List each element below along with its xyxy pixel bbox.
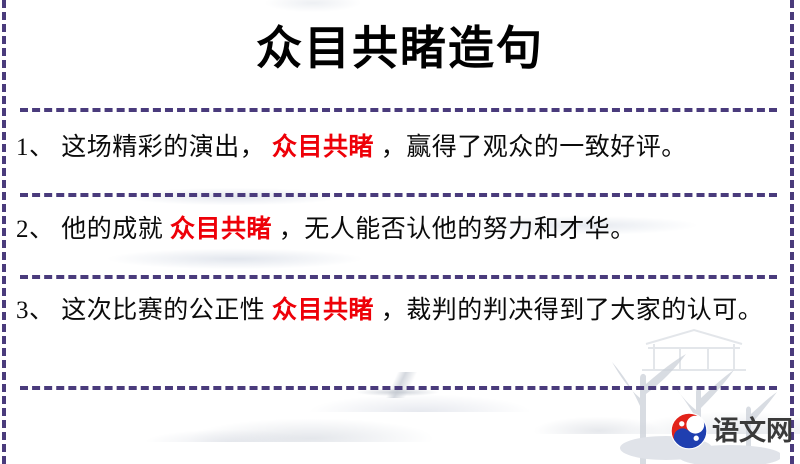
site-logo[interactable]: 语文网 bbox=[670, 408, 792, 454]
dashed-separator-3 bbox=[20, 275, 777, 279]
sentence-number-1: 1、 bbox=[16, 134, 55, 161]
yin-yang-fish-icon bbox=[670, 412, 708, 450]
sentence-text-before-2: 他的成就 bbox=[61, 216, 163, 243]
sentence-text-before-1: 这场精彩的演出， bbox=[61, 134, 265, 161]
sentence-text-after-3: ，裁判的判决得到了大家的认可。 bbox=[381, 297, 764, 324]
sentence-text-before-3: 这次比赛的公正性 bbox=[61, 297, 265, 324]
sentence-text-after-1: ，赢得了观众的一致好评。 bbox=[381, 134, 687, 161]
example-sentence-2: 2、 他的成就 众目共睹 ，无人能否认他的努力和才华。 bbox=[16, 208, 782, 252]
watermark-mountain-left bbox=[130, 372, 460, 442]
example-sentence-1: 1、 这场精彩的演出， 众目共睹 ，赢得了观众的一致好评。 bbox=[16, 126, 782, 170]
dashed-separator-1 bbox=[20, 108, 777, 112]
worksheet-page: 众目共睹造句 1、 这场精彩的演出， 众目共睹 ，赢得了观众的一致好评。 2、 … bbox=[0, 0, 800, 464]
keyword-highlight-2: 众目共睹 bbox=[170, 216, 272, 243]
watermark-boat bbox=[345, 372, 450, 398]
site-logo-label: 语文网 bbox=[712, 418, 793, 445]
sentence-number-2: 2、 bbox=[16, 216, 55, 243]
example-sentence-3: 3、 这次比赛的公正性 众目共睹 ，裁判的判决得到了大家的认可。 bbox=[16, 289, 782, 333]
sentence-text-after-2: ，无人能否认他的努力和才华。 bbox=[279, 216, 636, 243]
dashed-separator-2 bbox=[20, 193, 777, 197]
watermark-mountain-mid bbox=[300, 357, 600, 412]
dashed-separator-4 bbox=[20, 386, 777, 390]
sentence-number-3: 3、 bbox=[16, 297, 55, 324]
page-title: 众目共睹造句 bbox=[0, 18, 800, 78]
keyword-highlight-3: 众目共睹 bbox=[272, 297, 374, 324]
keyword-highlight-1: 众目共睹 bbox=[272, 134, 374, 161]
